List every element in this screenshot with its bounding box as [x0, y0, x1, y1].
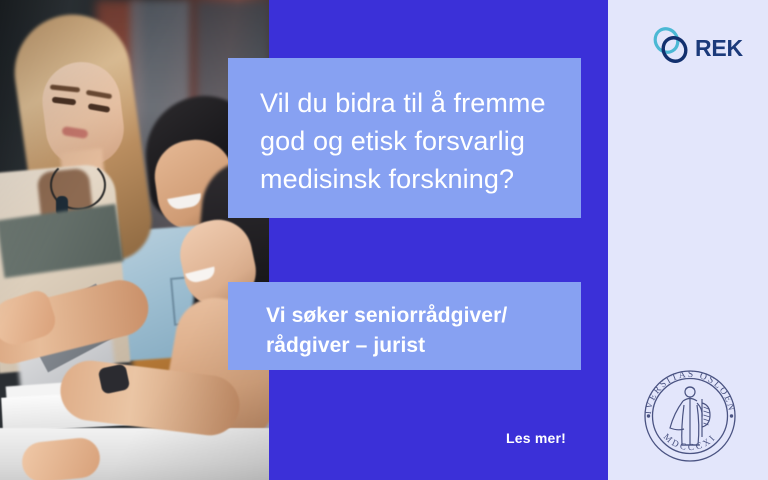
job-title-box: Vi søker seniorrådgiver/ rådgiver – juri… — [228, 282, 581, 370]
page-title: Vil du bidra til å fremme god og etisk f… — [260, 84, 551, 198]
headline-box: Vil du bidra til å fremme god og etisk f… — [228, 58, 581, 218]
rek-logo[interactable]: REK — [650, 26, 740, 70]
uio-seal: UNIVERSITAS OSLOENSIS MDCCCXI — [637, 363, 743, 469]
rek-interlocking-rings-icon — [650, 25, 692, 72]
recruitment-banner: Vil du bidra til å fremme god og etisk f… — [0, 0, 768, 480]
read-more-link[interactable]: Les mer! — [506, 430, 566, 446]
job-title: Vi søker seniorrådgiver/ rådgiver – juri… — [266, 301, 551, 361]
rek-wordmark: REK — [695, 37, 743, 60]
uio-seal-figure — [670, 387, 710, 445]
